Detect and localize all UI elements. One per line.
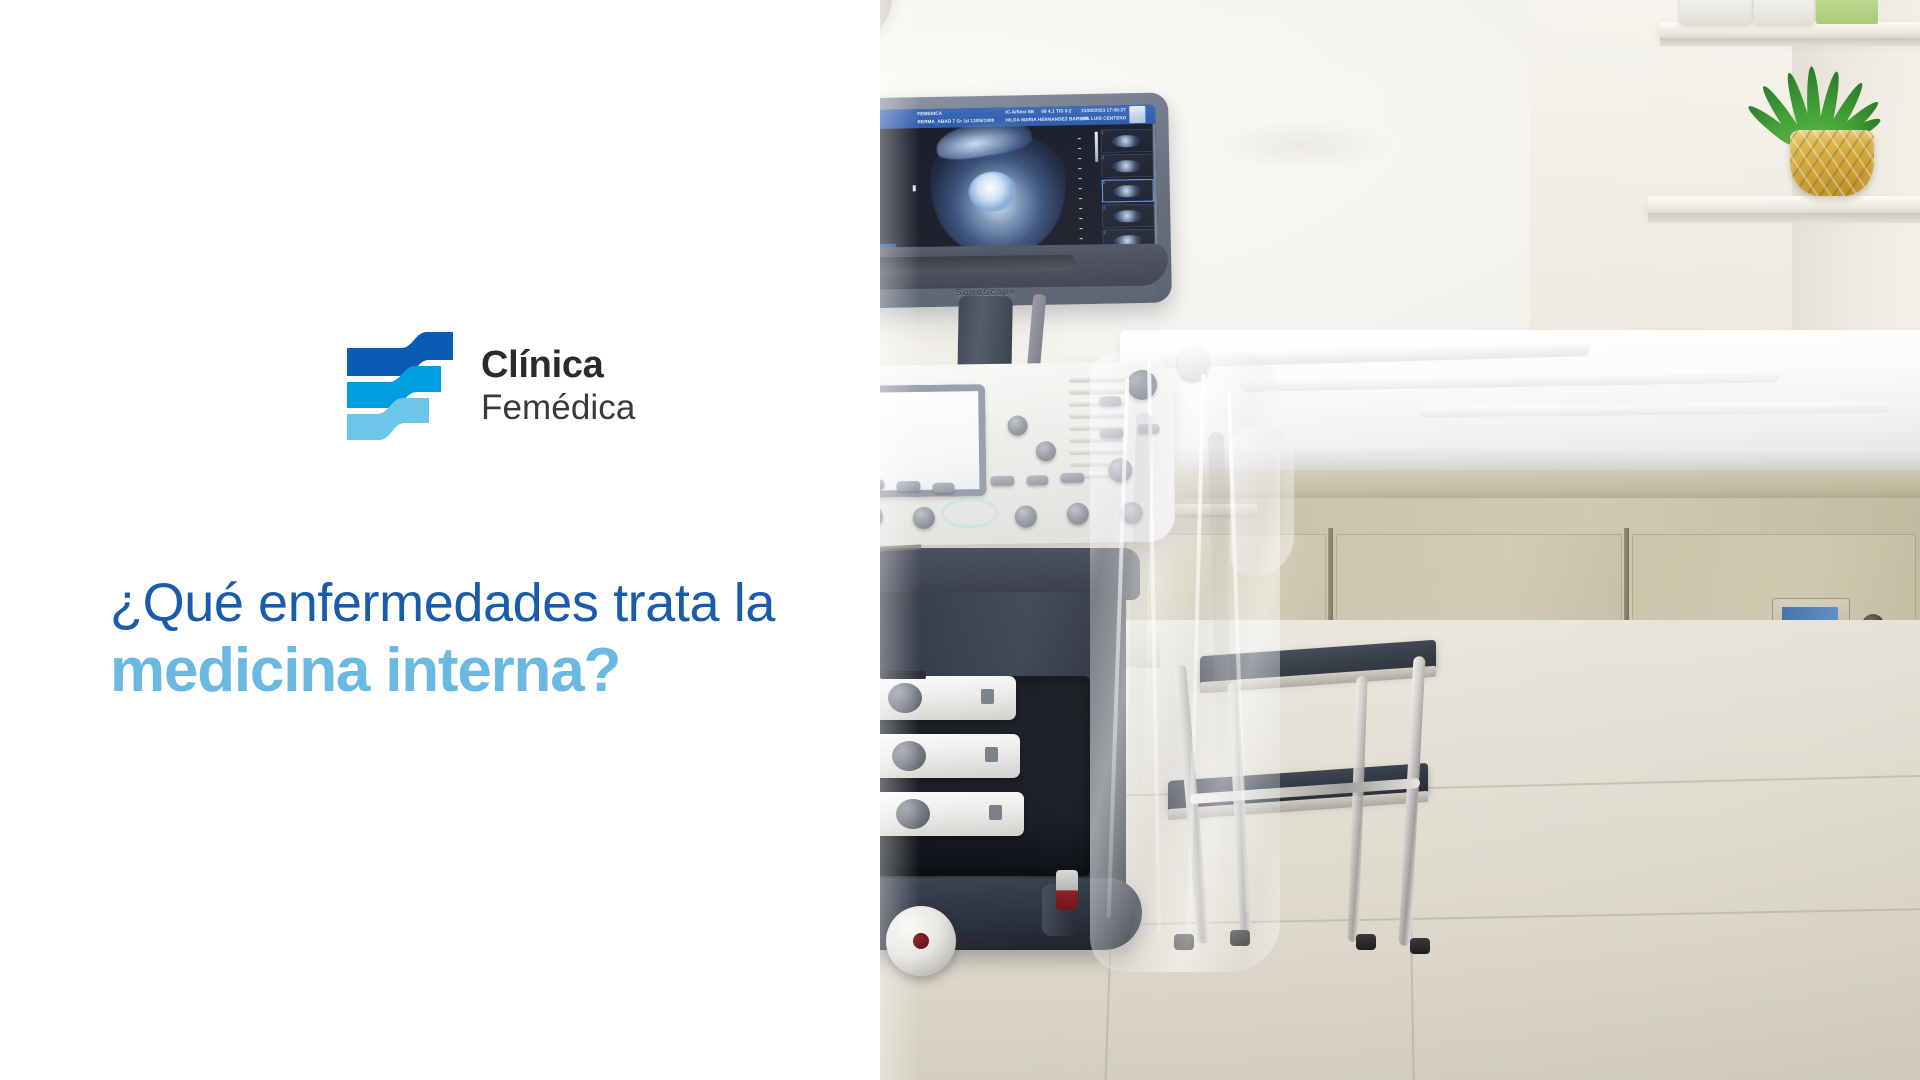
thumbnail-selected[interactable]: 3	[1102, 179, 1154, 203]
trackball[interactable]	[1127, 370, 1157, 400]
panel-button[interactable]	[1026, 475, 1048, 485]
thumbnail[interactable]: 2	[1101, 154, 1153, 178]
screen-field-4: DR. LUIS CENTENO	[1081, 115, 1126, 123]
panel-button[interactable]	[990, 476, 1014, 486]
panel-knob[interactable]	[1015, 505, 1037, 527]
panel-button[interactable]	[1099, 396, 1121, 406]
supply-box	[1754, 0, 1814, 24]
panel-button[interactable]	[1100, 428, 1124, 438]
focus-knob[interactable]	[1007, 415, 1027, 435]
screen-field-3: 24/02/2023 17:06:27	[1081, 107, 1126, 115]
panel-button[interactable]	[1138, 424, 1160, 434]
screen-field-0: FEMEDICA	[917, 110, 942, 117]
panel-button[interactable]	[1060, 473, 1084, 483]
green-box	[1816, 0, 1878, 24]
headline-line2: medicina interna?	[110, 636, 870, 705]
panel-knob[interactable]	[1067, 503, 1089, 525]
page-title: ¿Qué enfermedades trata la medicina inte…	[110, 575, 870, 706]
preset-knob[interactable]	[1108, 458, 1132, 482]
screen-field-2: 09 4.1 TIS 0.2	[1041, 108, 1071, 115]
three-wave-bars-icon	[345, 330, 455, 442]
screen-field-1: IC-A/Sect 6B	[1005, 109, 1034, 116]
poster-canvas: SonoScape FEMEDICA BERMA_ABAD 7 Gr 1d 13…	[0, 0, 1920, 1080]
brand-name-line1: Clínica	[481, 346, 635, 385]
plastic-drape-secondary	[1230, 426, 1294, 576]
freq-knob[interactable]	[1036, 441, 1056, 461]
supply-box	[1680, 0, 1752, 24]
cart-brake-pedal[interactable]	[1056, 870, 1078, 910]
screen-thumbnail-strip[interactable]: 1 2 3 4 5	[1101, 129, 1155, 255]
brand-logo[interactable]: Clínica Femédica	[345, 330, 635, 442]
headline-line1: ¿Qué enfermedades trata la	[110, 575, 870, 632]
panel-button[interactable]	[932, 483, 954, 493]
brand-name-line2: Femédica	[481, 390, 635, 426]
thumbnail[interactable]: 1	[1101, 129, 1153, 153]
control-panel-ring-light	[941, 498, 999, 529]
left-text-panel: Clínica Femédica ¿Qué enfermedades trata…	[0, 0, 880, 1080]
panel-knob[interactable]	[1121, 502, 1143, 524]
pineapple-planter	[1770, 80, 1890, 196]
thumbnail[interactable]: 4	[1102, 204, 1154, 228]
